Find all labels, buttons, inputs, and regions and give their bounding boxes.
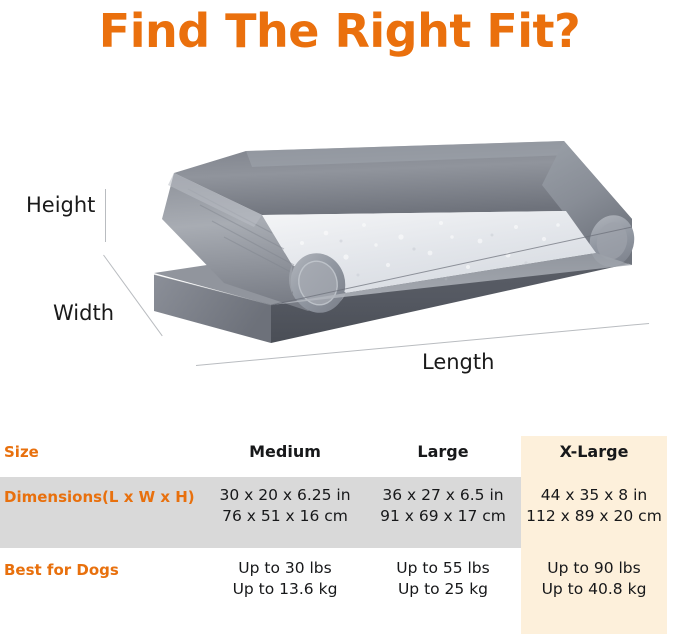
cell-dimensions-xlarge: 44 x 35 x 8 in 112 x 89 x 20 cm [521, 485, 667, 527]
cell-best-for-large: Up to 55 lbs Up to 25 kg [363, 558, 523, 600]
dimensions-in-xlarge: 44 x 35 x 8 in [521, 485, 667, 506]
best-for-kg-xlarge: Up to 40.8 kg [521, 579, 667, 600]
row-label-best-for-dogs: Best for Dogs [4, 561, 119, 579]
cell-dimensions-large: 36 x 27 x 6.5 in 91 x 69 x 17 cm [363, 485, 523, 527]
dog-bed-illustration [96, 115, 666, 345]
size-comparison-table: Size Dimensions(L x W x H) Best for Dogs… [0, 430, 679, 637]
height-guide-line [105, 189, 106, 242]
best-for-kg-large: Up to 25 kg [363, 579, 523, 600]
dimensions-cm-xlarge: 112 x 89 x 20 cm [521, 506, 667, 527]
width-label: Width [53, 301, 114, 325]
best-for-lbs-xlarge: Up to 90 lbs [521, 558, 667, 579]
dimensions-cm-large: 91 x 69 x 17 cm [363, 506, 523, 527]
column-header-medium: Medium [205, 442, 365, 461]
page-title: Find The Right Fit? [0, 2, 679, 60]
dimensions-in-large: 36 x 27 x 6.5 in [363, 485, 523, 506]
best-for-kg-medium: Up to 13.6 kg [205, 579, 365, 600]
length-label: Length [422, 350, 494, 374]
best-for-lbs-large: Up to 55 lbs [363, 558, 523, 579]
cell-best-for-medium: Up to 30 lbs Up to 13.6 kg [205, 558, 365, 600]
product-figure: Height Width Length [0, 95, 679, 395]
xlarge-column-highlight [521, 436, 667, 634]
row-label-size: Size [4, 443, 39, 461]
row-label-dimensions: Dimensions(L x W x H) [4, 488, 195, 506]
dimensions-cm-medium: 76 x 51 x 16 cm [205, 506, 365, 527]
column-header-xlarge: X-Large [521, 442, 667, 461]
cell-dimensions-medium: 30 x 20 x 6.25 in 76 x 51 x 16 cm [205, 485, 365, 527]
best-for-lbs-medium: Up to 30 lbs [205, 558, 365, 579]
dimensions-in-medium: 30 x 20 x 6.25 in [205, 485, 365, 506]
column-header-large: Large [363, 442, 523, 461]
height-label: Height [26, 193, 95, 217]
cell-best-for-xlarge: Up to 90 lbs Up to 40.8 kg [521, 558, 667, 600]
